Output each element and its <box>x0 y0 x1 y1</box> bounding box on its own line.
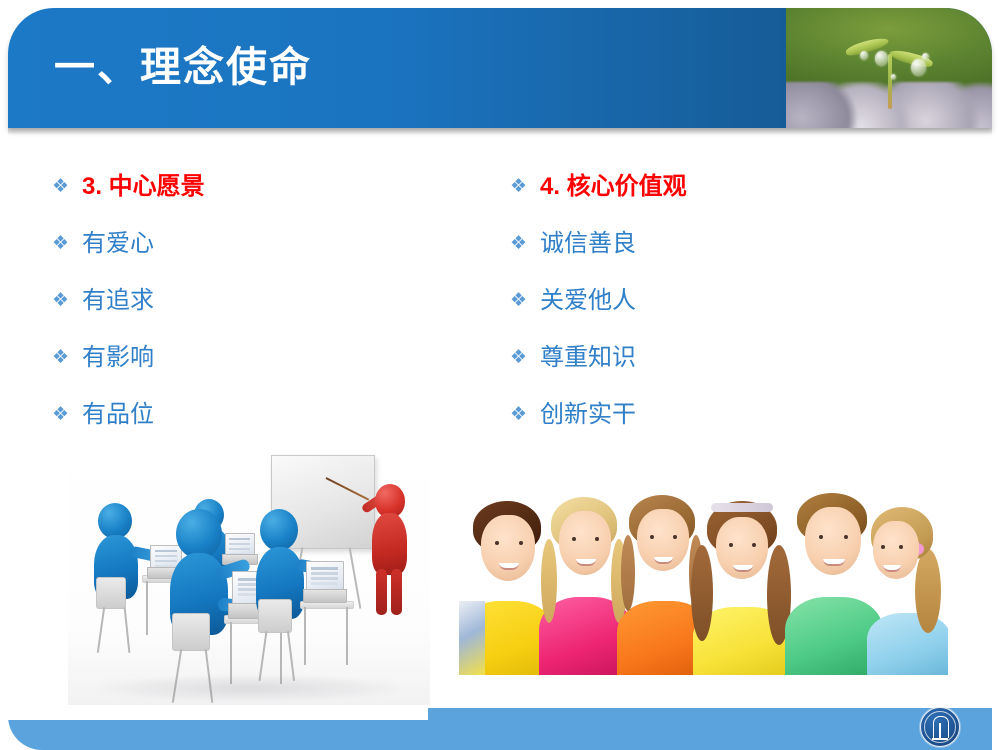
children-photo <box>459 487 948 675</box>
child-eye <box>881 545 885 549</box>
list-item: ❖ 有品位 <box>52 386 472 443</box>
list-item: ❖ 创新实干 <box>510 386 930 443</box>
page-title: 一、理念使命 <box>54 38 312 96</box>
bullet-column-left: ❖ 3. 中心愿景 ❖ 有爱心 ❖ 有追求 ❖ 有影响 ❖ 有品位 <box>52 158 472 443</box>
diamond-bullet-icon: ❖ <box>52 291 82 310</box>
chair-leg <box>287 631 295 681</box>
list-item: ❖ 4. 核心价值观 <box>510 158 930 215</box>
laptop <box>225 533 253 563</box>
list-item-label: 有追求 <box>82 286 154 316</box>
diamond-bullet-icon: ❖ <box>510 177 540 196</box>
child-eye <box>752 543 756 547</box>
seal-gate-shape <box>933 716 949 738</box>
bullet-column-right: ❖ 4. 核心价值观 ❖ 诚信善良 ❖ 关爱他人 ❖ 尊重知识 ❖ 创新实干 <box>510 158 930 443</box>
presentation-slide: 一、理念使命 ❖ 3. 中心愿景 ❖ 有爱心 ❖ 有追求 <box>0 0 1000 750</box>
student-head <box>176 509 222 559</box>
list-item-label: 尊重知识 <box>540 343 636 373</box>
child-figure <box>867 487 948 675</box>
dew-drop <box>911 59 926 76</box>
teacher-body <box>372 513 407 575</box>
seal-base <box>932 738 948 740</box>
child-figure <box>691 487 795 675</box>
list-item: ❖ 3. 中心愿景 <box>52 158 472 215</box>
child-eye <box>819 535 823 539</box>
child-hair-side <box>691 545 713 641</box>
diamond-bullet-icon: ❖ <box>510 405 540 424</box>
diamond-bullet-icon: ❖ <box>510 234 540 253</box>
list-item-label: 创新实干 <box>540 400 636 430</box>
list-item: ❖ 尊重知识 <box>510 329 930 386</box>
whiteboard-leg <box>349 547 362 608</box>
diamond-bullet-icon: ❖ <box>52 177 82 196</box>
list-item: ❖ 有追求 <box>52 272 472 329</box>
list-item-label: 4. 核心价值观 <box>540 172 687 202</box>
dew-drop <box>860 51 868 60</box>
child-eye <box>519 541 523 545</box>
desk-leg <box>346 607 348 665</box>
laptop-base <box>303 589 347 603</box>
student-head <box>260 509 298 551</box>
seedling-photo <box>786 8 992 128</box>
child-eye <box>595 537 599 541</box>
list-item-label: 3. 中心愿景 <box>82 172 205 202</box>
child-ponytail <box>915 549 941 633</box>
student-head <box>98 503 132 539</box>
list-item-label: 关爱他人 <box>540 286 636 316</box>
chair <box>96 577 126 609</box>
child-braid <box>541 539 557 623</box>
child-face <box>481 515 535 581</box>
child-eye <box>673 535 677 539</box>
dew-drop <box>922 53 929 61</box>
laptop-screen <box>225 533 255 556</box>
teacher-leg <box>376 569 387 615</box>
child-eye <box>572 537 576 541</box>
list-item-label: 有影响 <box>82 343 154 373</box>
list-item: ❖ 有爱心 <box>52 215 472 272</box>
university-seal-logo-icon <box>920 707 960 747</box>
chair <box>172 613 210 651</box>
child-eye <box>495 541 499 545</box>
floor-reflection <box>97 675 401 701</box>
child-shirt-stripe <box>459 601 485 675</box>
list-item-label: 有品位 <box>82 400 154 430</box>
header-shadow <box>8 128 992 135</box>
list-item-label: 有爱心 <box>82 229 154 259</box>
diamond-bullet-icon: ❖ <box>510 291 540 310</box>
seal-pillar <box>939 723 941 738</box>
child-eye <box>899 545 903 549</box>
chair-leg <box>97 607 105 653</box>
diamond-bullet-icon: ❖ <box>510 348 540 367</box>
child-braid <box>621 535 635 611</box>
sprout-stem <box>888 54 892 109</box>
diamond-bullet-icon: ❖ <box>52 234 82 253</box>
chair <box>258 599 292 633</box>
diamond-bullet-icon: ❖ <box>52 348 82 367</box>
footer-notch <box>8 706 428 720</box>
chair-leg <box>259 631 268 681</box>
classroom-illustration <box>68 437 430 705</box>
child-eye <box>729 543 733 547</box>
teacher-leg <box>391 569 402 615</box>
child-eye <box>650 535 654 539</box>
child-mouth <box>823 559 845 566</box>
desk-leg <box>146 581 148 635</box>
desk-leg <box>304 607 306 665</box>
dew-drop <box>875 51 888 66</box>
child-eye <box>844 535 848 539</box>
child-headband <box>711 503 773 512</box>
list-item: ❖ 有影响 <box>52 329 472 386</box>
laptop <box>306 561 342 601</box>
list-item: ❖ 诚信善良 <box>510 215 930 272</box>
list-item-label: 诚信善良 <box>540 229 636 259</box>
diamond-bullet-icon: ❖ <box>52 405 82 424</box>
laptop-screen <box>306 561 344 591</box>
list-item: ❖ 关爱他人 <box>510 272 930 329</box>
slide-header-band: 一、理念使命 <box>8 8 992 128</box>
chair-leg <box>124 607 131 653</box>
